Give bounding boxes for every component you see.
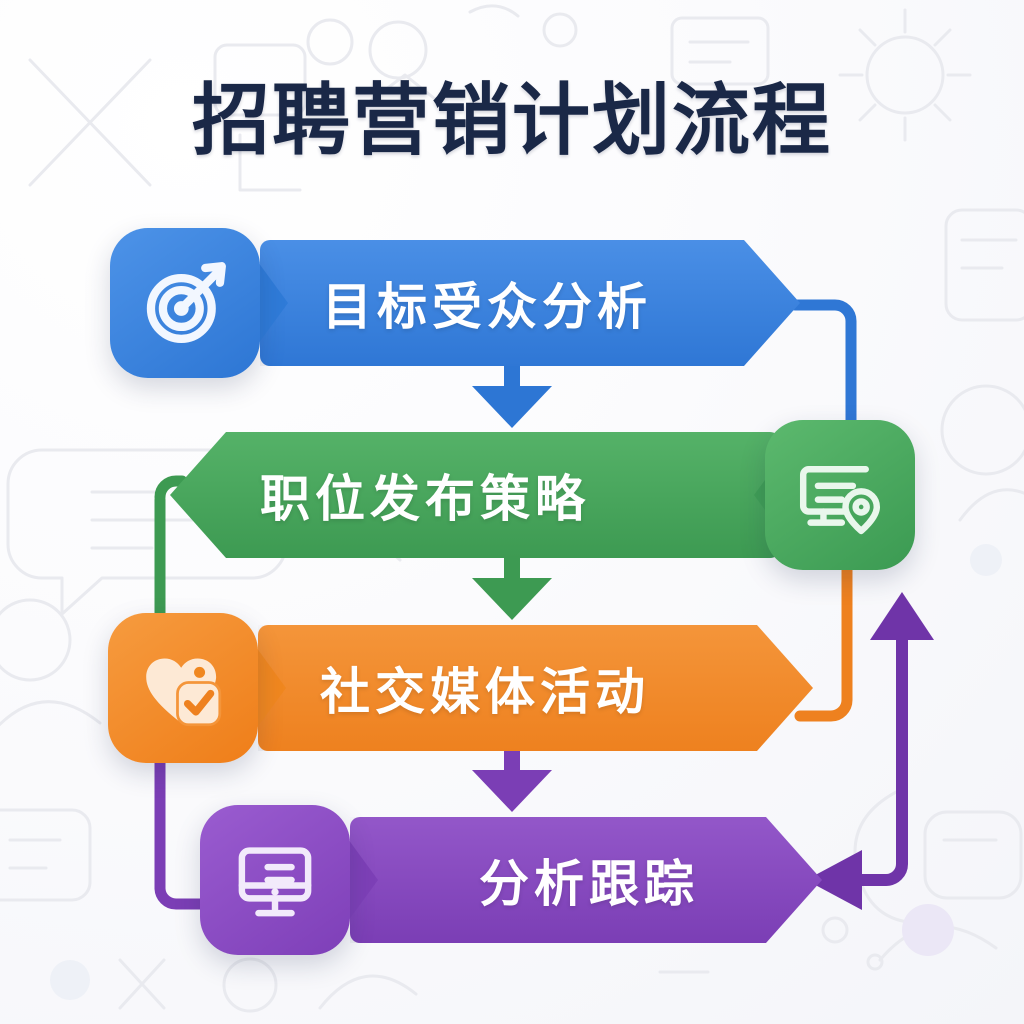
step-banner-2[interactable]: 职位发布策略 [170, 432, 780, 558]
infographic-canvas: 招聘营销计划流程 [0, 0, 1024, 1024]
badge-nub-4 [348, 839, 382, 921]
step-icon-badge-2[interactable] [765, 420, 915, 570]
step-label-4: 分析跟踪 [412, 844, 822, 916]
badge-nub-1 [258, 262, 292, 344]
step-row-1[interactable]: 目标受众分析 [110, 228, 800, 378]
step-row-4[interactable]: 分析跟踪 [200, 805, 822, 955]
step-icon-badge-1[interactable] [110, 228, 260, 378]
step-banner-1[interactable]: 目标受众分析 [260, 240, 800, 366]
step-banner-3[interactable]: 社交媒体活动 [258, 625, 813, 751]
step-icon-badge-4[interactable] [200, 805, 350, 955]
page-title: 招聘营销计划流程 [0, 72, 1024, 168]
desktop-monitor-icon [229, 834, 321, 926]
step-icon-badge-3[interactable] [108, 613, 258, 763]
heart-check-icon [137, 642, 229, 734]
feedback-loop-step4-to-step2-line [830, 628, 902, 880]
step-banner-4[interactable]: 分析跟踪 [350, 817, 822, 943]
target-dartboard-icon [139, 257, 231, 349]
step-label-1: 目标受众分析 [322, 267, 652, 339]
step-label-2: 职位发布策略 [260, 459, 590, 531]
feedback-loop-arrow-up-icon [870, 592, 934, 640]
step-row-3[interactable]: 社交媒体活动 [108, 613, 813, 763]
monitor-location-pin-icon [794, 449, 886, 541]
step-row-2[interactable]: 职位发布策略 [170, 420, 915, 570]
step-label-3: 社交媒体活动 [320, 652, 650, 724]
badge-nub-3 [256, 647, 290, 729]
